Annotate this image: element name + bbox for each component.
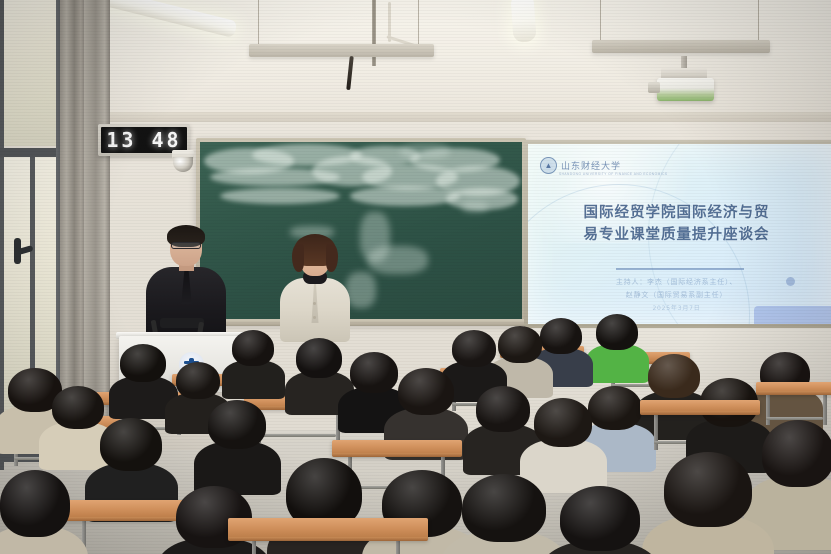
audience-head — [232, 330, 274, 366]
audience-head — [596, 314, 638, 350]
audience-head — [452, 330, 496, 367]
audience-member — [596, 314, 638, 362]
desk-edge — [228, 537, 428, 541]
audience-head — [100, 418, 162, 471]
wall-trim-band — [0, 112, 831, 122]
classroom-photo-scene: 13 48 — [0, 0, 831, 554]
panel-wire — [418, 0, 419, 46]
projector-lens — [648, 82, 660, 93]
audience-head — [664, 452, 752, 527]
audience-member — [452, 330, 496, 380]
audience-head — [398, 368, 454, 415]
audience-member — [498, 326, 542, 376]
blackboard-frame — [196, 138, 526, 323]
audience-head — [498, 326, 542, 363]
suspended-light-panel — [249, 44, 434, 57]
audience-member — [120, 344, 166, 396]
audience-member — [208, 400, 266, 466]
audience-head — [588, 386, 642, 430]
panel-wire — [758, 0, 759, 42]
audience-head — [462, 474, 546, 542]
audience-member — [476, 386, 530, 448]
audience-member — [100, 418, 162, 490]
audience-head — [540, 318, 582, 354]
chalk-ledge — [194, 319, 530, 326]
audience-head — [296, 338, 342, 378]
university-logo-text: 山东财经大学 — [561, 159, 621, 172]
blackboard-surface — [200, 142, 522, 319]
window-mullion — [0, 148, 62, 157]
audience-member — [540, 318, 582, 366]
audience-head — [208, 400, 266, 449]
audience-head — [648, 354, 700, 398]
audience-member — [762, 420, 831, 510]
panel-wire — [258, 0, 259, 46]
slide-title: 国际经贸学院国际经济与贸 易专业课堂质量提升座谈会 — [528, 202, 825, 247]
audience-member — [296, 338, 342, 392]
audience-head — [0, 470, 70, 537]
audience-member — [560, 486, 640, 554]
desk-edge — [640, 411, 760, 415]
panel-wire — [600, 0, 601, 42]
slide-decor-box — [754, 306, 831, 324]
desk-edge — [756, 391, 831, 395]
desk-edge — [332, 453, 462, 457]
slide-subtitle-line-2: 赵静文（国际贸易系副主任） — [528, 290, 825, 300]
projection-screen-frame: ▲ 山东财经大学 SHANDONG UNIVERSITY OF FINANCE … — [524, 140, 831, 328]
audience-member — [664, 452, 752, 554]
clock-time-text: 13 48 — [106, 130, 181, 150]
suspended-light-panel — [592, 40, 770, 53]
desk-rail — [257, 434, 336, 437]
audience-member — [232, 330, 274, 378]
desk-leg — [396, 540, 400, 554]
slide-subtitle-line-1: 主持人：李杰（国际经济系主任）、 — [528, 277, 825, 287]
audience-member — [588, 386, 642, 446]
audience-member — [382, 470, 462, 554]
audience-member — [350, 352, 398, 408]
audience-head — [560, 486, 640, 551]
ceiling-projector — [657, 78, 714, 101]
audience-head — [762, 420, 831, 487]
audience-member — [52, 386, 104, 444]
projection-screen: ▲ 山东财经大学 SHANDONG UNIVERSITY OF FINANCE … — [528, 144, 831, 324]
slide-title-line-2: 易专业课堂质量提升座谈会 — [528, 224, 825, 246]
slide-title-line-1: 国际经贸学院国际经济与贸 — [528, 202, 825, 224]
audience-head — [350, 352, 398, 393]
audience-head — [52, 386, 104, 429]
university-logo-subtext: SHANDONG UNIVERSITY OF FINANCE AND ECONO… — [559, 172, 668, 176]
audience-head — [476, 386, 530, 432]
audience-head — [176, 362, 220, 399]
female-presenter — [278, 234, 352, 342]
desk-leg — [252, 540, 256, 554]
audience-member — [462, 474, 546, 554]
slide-divider-rule — [616, 268, 744, 270]
fluorescent-tube-light — [510, 0, 536, 43]
desk-leg — [654, 414, 658, 450]
slide-decor-dot — [786, 277, 795, 286]
presenter-hair-right — [326, 244, 338, 272]
audience-head — [120, 344, 166, 382]
glasses-icon — [171, 242, 201, 249]
audience-head — [534, 398, 592, 447]
audience-member — [534, 398, 592, 464]
audience-member — [0, 470, 70, 554]
window-frame-left — [0, 0, 4, 470]
university-logo-mark: ▲ — [540, 157, 557, 174]
audience-member — [398, 368, 454, 432]
presenter-hair-left — [292, 244, 304, 272]
window-pane-upper — [2, 0, 56, 146]
